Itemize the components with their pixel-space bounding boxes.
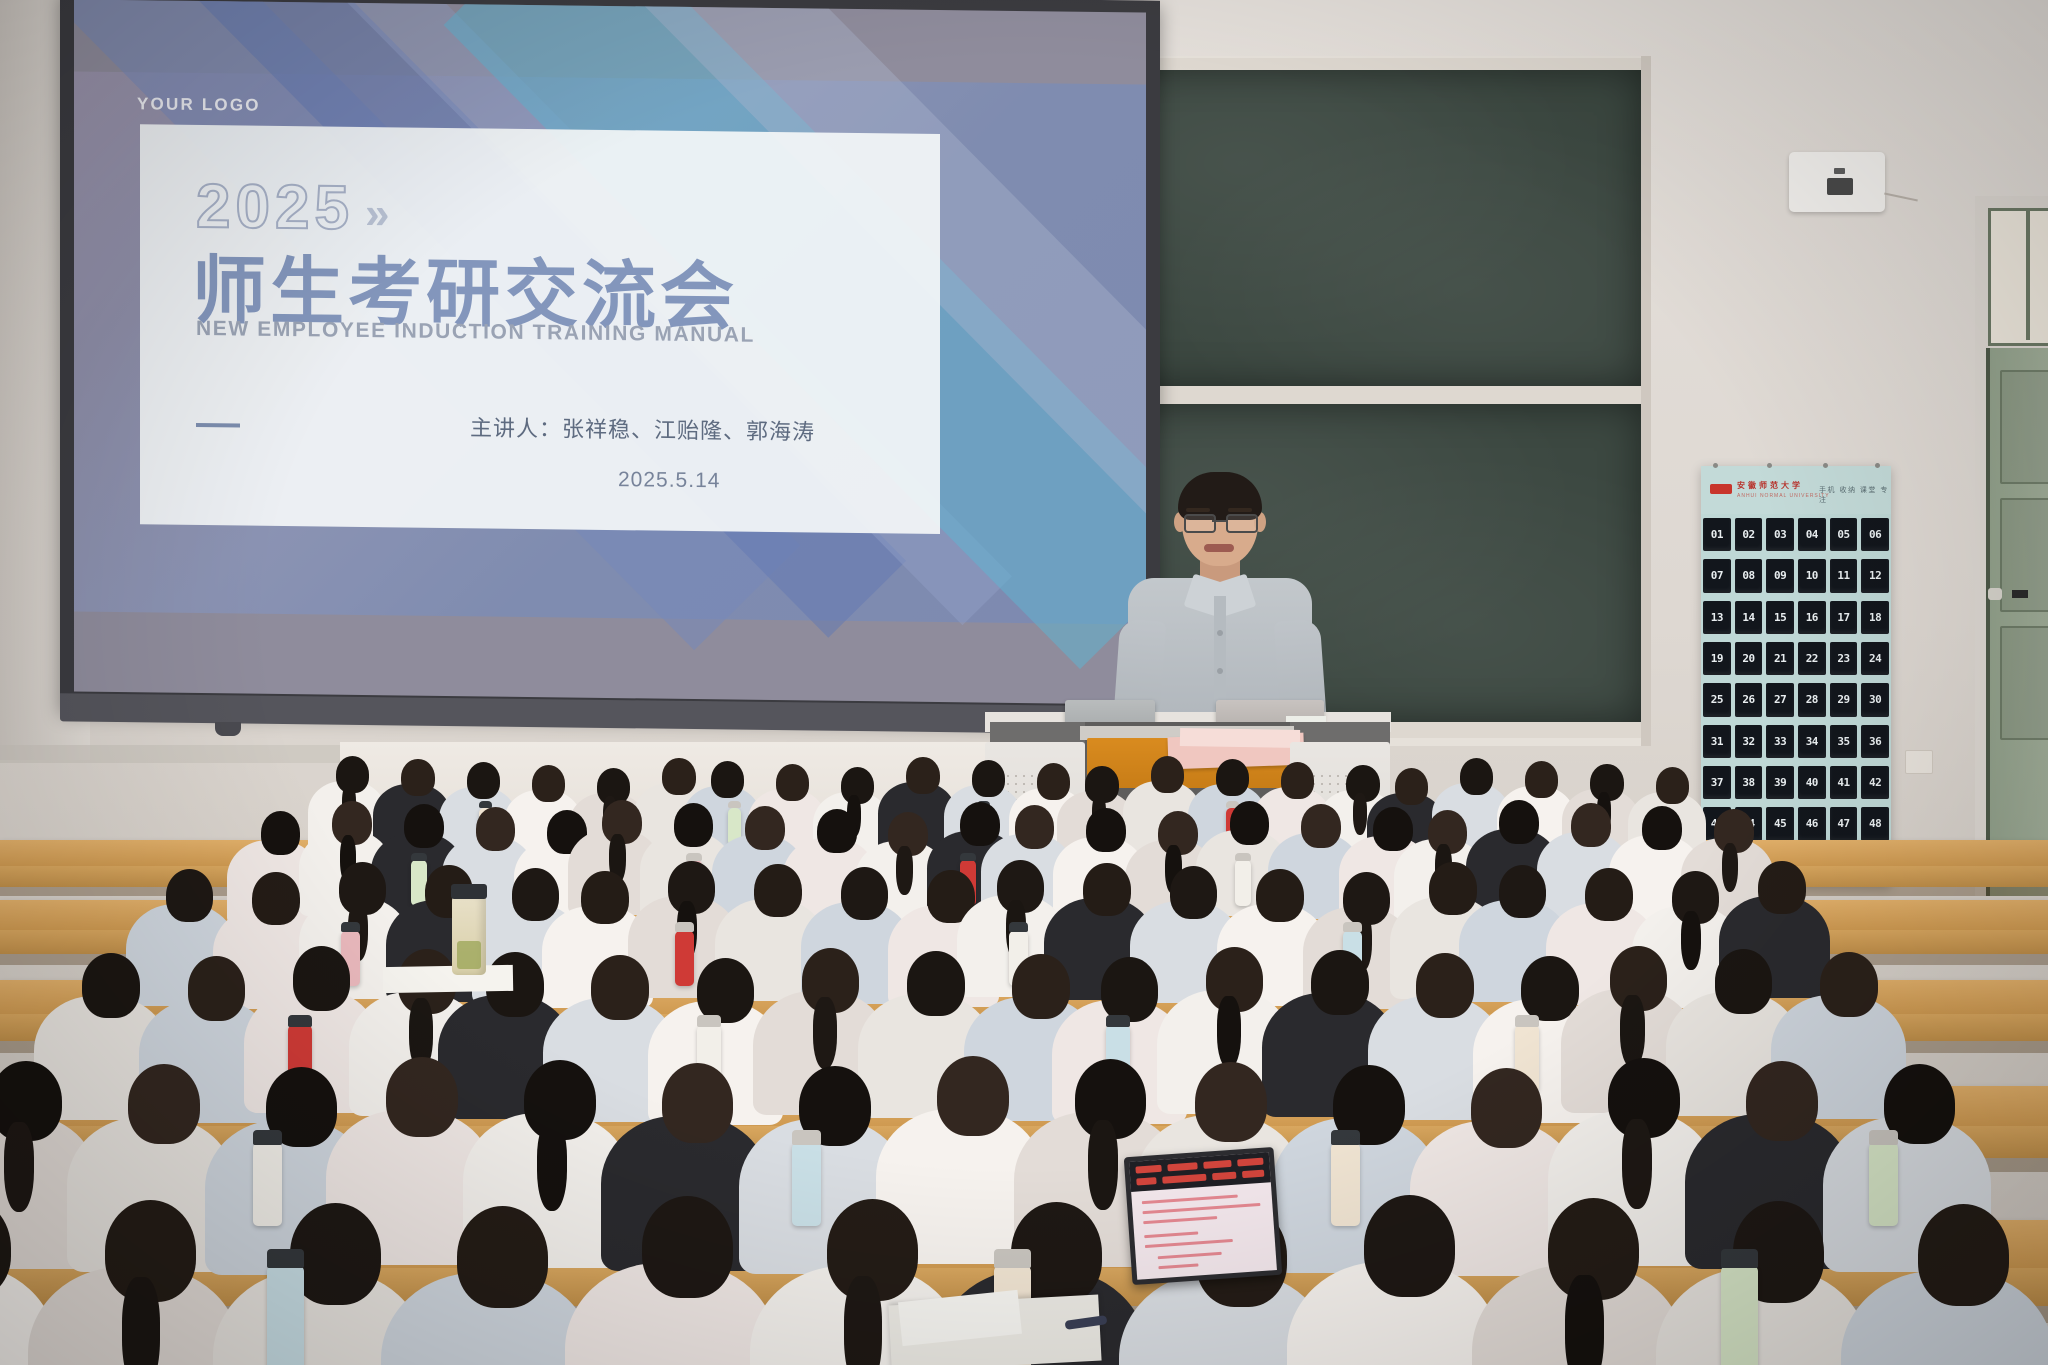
water-bottle[interactable] [1721,1266,1758,1365]
student-ponytail [844,1276,882,1365]
bottle-cap-icon [792,1130,821,1145]
pocket-slot-number: 41 [1830,766,1858,799]
student-head [404,804,444,848]
pocket-slot-number: 33 [1766,725,1794,758]
student-ponytail [122,1277,160,1365]
water-bottle[interactable] [1235,860,1251,906]
slide-presenters: 主讲人：张祥稳、江贻隆、郭海涛 [470,410,815,446]
slide-date: 2025.5.14 [618,468,720,493]
water-bottle[interactable] [1331,1143,1360,1226]
pocket-slot[interactable]: 23 [1828,638,1860,679]
pocket-chart-brand: 安徽师范大学 [1737,480,1803,491]
shirt-button-icon [1217,668,1223,674]
pocket-slot[interactable]: 05 [1828,514,1860,555]
water-bottle[interactable] [267,1266,304,1365]
student-ponytail [813,997,837,1069]
tea-flask[interactable] [452,895,486,975]
pocket-slot-number: 10 [1798,559,1826,592]
student-head [642,1196,733,1298]
bottle-cap-icon [728,801,742,808]
student-head [401,759,434,796]
desk-paper-sheet [383,965,513,993]
pocket-slot[interactable]: 19 [1701,638,1733,679]
pocket-slot[interactable]: 42 [1859,762,1891,803]
student-head [960,802,1000,846]
presenter-eyebrow [1186,508,1210,512]
pocket-slot[interactable]: 18 [1859,597,1891,638]
student-head [817,809,857,853]
bottle-cap-icon [1515,1015,1538,1027]
student-head [1012,954,1070,1019]
pocket-slot-number: 32 [1735,725,1763,758]
pocket-slot[interactable]: 27 [1764,679,1796,720]
pocket-slot[interactable]: 03 [1764,514,1796,555]
student-head [697,958,755,1023]
pocket-slot[interactable]: 29 [1828,679,1860,720]
device-indicator-icon [1834,168,1845,174]
pocket-slot[interactable]: 14 [1733,597,1765,638]
wall-speaker-device [1789,152,1885,212]
pocket-slot[interactable]: 34 [1796,721,1828,762]
student-head [1037,763,1070,800]
pocket-slot-number: 20 [1735,642,1763,675]
student-head [512,868,559,921]
student-head [252,872,299,925]
pocket-slot[interactable]: 40 [1796,762,1828,803]
pocket-slot[interactable]: 41 [1828,762,1860,803]
pocket-slot[interactable]: 33 [1764,721,1796,762]
chevron-right-icon: » [365,189,383,239]
student-head [907,951,965,1016]
student-head [82,953,140,1018]
pocket-slot-number: 15 [1766,601,1794,634]
student-head [1521,956,1579,1021]
pocket-slot-number: 05 [1830,518,1858,551]
pocket-slot-number: 11 [1830,559,1858,592]
pocket-slot-number: 04 [1798,518,1826,551]
door-panel [2000,370,2048,484]
transom-mullion [2026,208,2030,340]
student-head [1311,950,1369,1015]
pocket-slot-number: 23 [1830,642,1858,675]
pocket-pin-icon [1823,463,1828,468]
pocket-slot-number: 28 [1798,683,1826,716]
pocket-slot[interactable]: 32 [1733,721,1765,762]
student-ponytail [1353,793,1367,835]
student-head [1642,806,1682,850]
pocket-slot-number: 16 [1798,601,1826,634]
student-ponytail [1565,1275,1603,1365]
student-head [1499,865,1546,918]
student-head [1195,1062,1267,1142]
pocket-chart-brand-en: ANHUI NORMAL UNIVERSITY [1737,493,1830,499]
student-ponytail [1622,1119,1652,1209]
pocket-slot-number: 31 [1703,725,1731,758]
presenter-hair [1178,472,1262,520]
pocket-slot-number: 07 [1703,559,1731,592]
student-ponytail [1681,911,1701,970]
pocket-slot-number: 14 [1735,601,1763,634]
pocket-slot-number: 34 [1798,725,1826,758]
wall-outlet [1905,750,1933,774]
classroom-scene: 安徽师范大学 ANHUI NORMAL UNIVERSITY 手机 收纳 课堂 … [0,0,2048,1365]
student-head [662,1063,734,1143]
student-head [293,946,351,1011]
student-head [906,757,939,794]
pocket-slot-number: 06 [1861,518,1889,551]
pocket-slot[interactable]: 02 [1733,514,1765,555]
slide-divider [196,423,240,428]
student-head [1281,762,1314,799]
student-head [776,764,809,801]
pocket-slot-number: 39 [1766,766,1794,799]
pocket-slot[interactable]: 38 [1733,762,1765,803]
pocket-slot-number: 45 [1766,807,1794,840]
pocket-slot-number: 29 [1830,683,1858,716]
student-head [1499,800,1539,844]
student-head [1715,949,1773,1014]
pocket-slot[interactable]: 48 [1859,803,1891,844]
pocket-slot-number: 21 [1766,642,1794,675]
student-head [1395,768,1428,805]
bottle-cap-icon [960,853,976,861]
pocket-slot[interactable]: 01 [1701,514,1733,555]
pocket-chart-note: 手机 收纳 课堂 专注 [1819,485,1891,505]
pocket-slot-number: 30 [1861,683,1889,716]
bottle-cap-icon [697,1015,720,1027]
pocket-slot[interactable]: 36 [1859,721,1891,762]
student-head [1758,861,1805,914]
pocket-slot-number: 37 [1703,766,1731,799]
door-panel [2000,626,2048,740]
pocket-pin-icon [1713,463,1718,468]
water-bottle[interactable] [792,1143,821,1226]
student-head [754,864,801,917]
pocket-slot[interactable]: 15 [1764,597,1796,638]
pocket-slot[interactable]: 09 [1764,555,1796,596]
pocket-slot-number: 22 [1798,642,1826,675]
shirt-button-icon [1217,630,1223,636]
pocket-slot-number: 02 [1735,518,1763,551]
pocket-slot-number: 36 [1861,725,1889,758]
presenter-mouth [1204,544,1234,552]
bottle-cap-icon [253,1130,282,1145]
student-ponytail [537,1121,567,1211]
pocket-slot[interactable]: 06 [1859,514,1891,555]
student-head [1256,869,1303,922]
student-head [476,807,516,851]
pocket-slot-number: 03 [1766,518,1794,551]
student-ponytail [1088,1120,1118,1210]
pocket-slot[interactable]: 13 [1701,597,1733,638]
student-head [662,758,695,795]
water-bottle[interactable] [675,931,694,986]
student-ponytail [4,1122,34,1212]
pocket-slot-number: 24 [1861,642,1889,675]
student-head [1301,804,1341,848]
student-head [128,1064,200,1144]
pocket-slot-number: 38 [1735,766,1763,799]
pocket-slot[interactable]: 37 [1701,762,1733,803]
pocket-slot-number: 25 [1703,683,1731,716]
student-laptop[interactable] [1124,1147,1283,1285]
student-head [386,1057,458,1137]
pocket-slot-number: 40 [1798,766,1826,799]
pocket-slot-number: 35 [1830,725,1858,758]
pocket-slot[interactable]: 28 [1796,679,1828,720]
pocket-slot-number: 19 [1703,642,1731,675]
door-handle[interactable] [1988,588,2002,600]
student-head [1364,1195,1455,1297]
bottle-cap-icon [1343,922,1362,932]
student-head [581,871,628,924]
student-head [745,806,785,850]
screen-pull-knob[interactable] [215,722,241,736]
pocket-slot-number: 47 [1830,807,1858,840]
pocket-slot-number: 42 [1861,766,1889,799]
pocket-slot-number: 01 [1703,518,1731,551]
student-head [467,762,500,799]
student-head [1373,807,1413,851]
pocket-slot-number: 48 [1861,807,1889,840]
presenter-eyebrow [1228,508,1252,512]
laptop-toolbar [1129,1152,1271,1192]
student-head [1101,957,1159,1022]
student-ponytail [896,846,913,896]
classroom-door[interactable] [1986,348,2048,896]
pocket-slot[interactable]: 26 [1733,679,1765,720]
pocket-slot[interactable]: 17 [1828,597,1860,638]
pocket-slot-number: 17 [1830,601,1858,634]
bottle-cap-icon [1235,853,1251,861]
university-logo-icon [1710,484,1732,494]
student-head [972,760,1005,797]
device-sensor-icon [1827,178,1853,195]
water-bottle[interactable] [1869,1143,1898,1226]
pocket-slot-number: 12 [1861,559,1889,592]
student-head [1170,866,1217,919]
bottle-cap-icon [994,1249,1031,1268]
student-head [1918,1204,2009,1306]
student-head [841,867,888,920]
pocket-slot[interactable]: 47 [1828,803,1860,844]
pocket-slot[interactable]: 21 [1764,638,1796,679]
student-head [1656,767,1689,804]
student-head [1230,801,1270,845]
bottle-cap-icon [1106,1015,1129,1027]
pocket-slot[interactable]: 10 [1796,555,1828,596]
pocket-slot[interactable]: 07 [1701,555,1733,596]
pocket-slot[interactable]: 22 [1796,638,1828,679]
pocket-slot-number: 09 [1766,559,1794,592]
student-head [166,869,213,922]
lectern-papers-sheet [1180,728,1300,748]
pocket-slot[interactable]: 20 [1733,638,1765,679]
student-head [1525,761,1558,798]
bottle-cap-icon [1869,1130,1898,1145]
pocket-slot[interactable]: 12 [1859,555,1891,596]
pocket-slot[interactable]: 11 [1828,555,1860,596]
student-head [1151,756,1184,793]
projector-screen-surface: YOUR LOGO 2025 » 师生考研交流会 NEW EMPLOYEE IN… [74,0,1146,705]
student-head [1460,758,1493,795]
bottle-cap-icon [1721,1249,1758,1268]
student-head [1429,862,1476,915]
pocket-slot[interactable]: 04 [1796,514,1828,555]
pocket-slot-number: 18 [1861,601,1889,634]
tea-leaves [457,941,481,969]
bottle-cap-icon [675,922,694,932]
blackboard-right-edge [1641,56,1651,746]
pocket-slot[interactable]: 30 [1859,679,1891,720]
student-head [1820,952,1878,1017]
projector-screen-frame: YOUR LOGO 2025 » 师生考研交流会 NEW EMPLOYEE IN… [60,0,1160,723]
student-ponytail [1620,995,1644,1067]
bottle-cap-icon [451,884,487,899]
student-head [1571,803,1611,847]
student-ponytail [1217,996,1241,1068]
student-head [1585,868,1632,921]
student-head [1015,805,1055,849]
pocket-slot[interactable]: 31 [1701,721,1733,762]
slide-content-card: 2025 » 师生考研交流会 NEW EMPLOYEE INDUCTION TR… [140,124,940,534]
pocket-slot[interactable]: 35 [1828,721,1860,762]
pocket-slot[interactable]: 39 [1764,762,1796,803]
pocket-slot[interactable]: 24 [1859,638,1891,679]
pocket-slot[interactable]: 08 [1733,555,1765,596]
student-head [532,765,565,802]
student-head [1086,808,1126,852]
student-head [1746,1061,1818,1141]
student-head [711,761,744,798]
student-head [1216,759,1249,796]
student-head [591,955,649,1020]
pocket-chart-header: 安徽师范大学 ANHUI NORMAL UNIVERSITY 手机 收纳 课堂 … [1701,466,1891,514]
bottle-cap-icon [267,1249,304,1268]
pocket-slot-number: 27 [1766,683,1794,716]
slide-logo-placeholder: YOUR LOGO [137,94,261,116]
door-transom-window [1988,208,2048,346]
presentation-slide: YOUR LOGO 2025 » 师生考研交流会 NEW EMPLOYEE IN… [74,71,1146,624]
student-head [1083,863,1130,916]
student-head [457,1206,548,1308]
bottle-cap-icon [341,922,360,932]
pocket-slot-number: 13 [1703,601,1731,634]
student-head [1416,953,1474,1018]
bottle-cap-icon [1009,922,1028,932]
student-head [937,1056,1009,1136]
bottle-cap-icon [1331,1130,1360,1145]
door-lock-icon[interactable] [2012,590,2028,598]
pocket-slot[interactable]: 46 [1796,803,1828,844]
laptop-screen [1129,1152,1277,1279]
water-bottle[interactable] [253,1143,282,1226]
bottle-cap-icon [686,853,702,861]
pocket-slot[interactable]: 16 [1796,597,1828,638]
pocket-pin-icon [1875,463,1880,468]
pocket-slot[interactable]: 45 [1764,803,1796,844]
pocket-slot[interactable]: 25 [1701,679,1733,720]
pocket-slot-number: 46 [1798,807,1826,840]
pocket-slot-number: 26 [1735,683,1763,716]
student-ponytail [1722,843,1739,893]
student-head [261,811,301,855]
student-head [188,956,246,1021]
bottle-cap-icon [411,853,427,861]
student-head [1471,1068,1543,1148]
pocket-slot-number: 08 [1735,559,1763,592]
glasses-icon [1184,514,1256,530]
pocket-pin-icon [1767,463,1772,468]
student-head [674,803,714,847]
bottle-cap-icon [288,1015,311,1027]
